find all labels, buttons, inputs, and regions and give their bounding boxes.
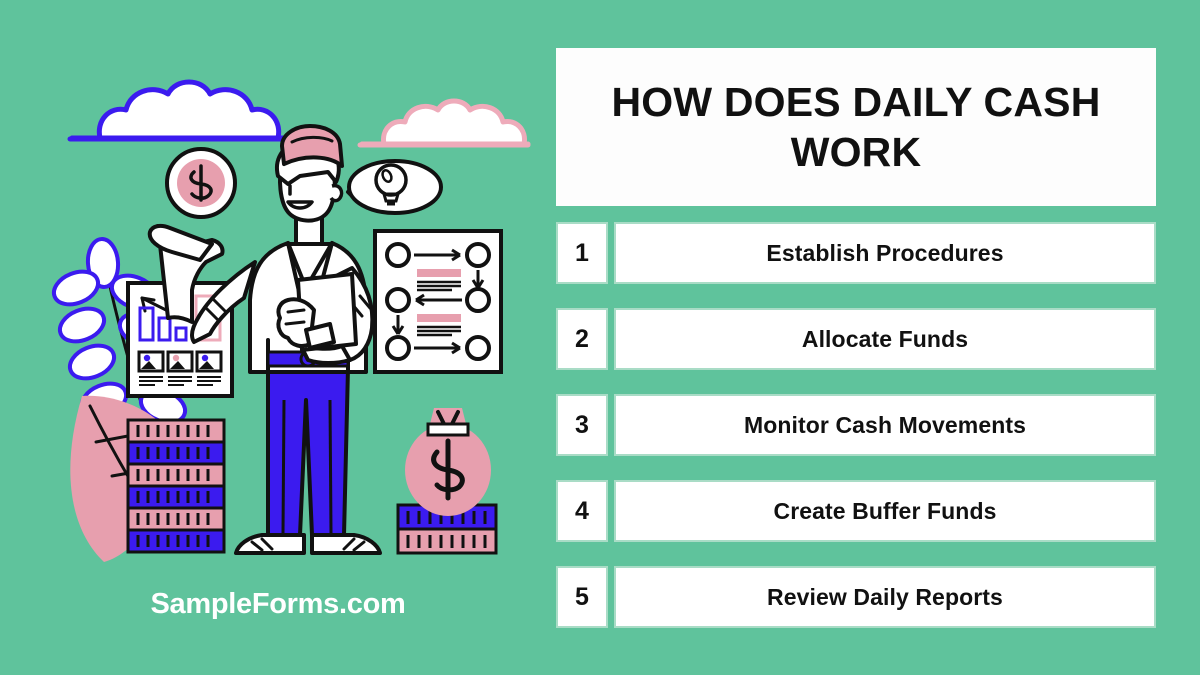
step-number: 3 [556, 394, 608, 456]
title-card: How Does Daily Cash Work [556, 48, 1156, 206]
flowchart-document-icon [375, 231, 501, 372]
list-item[interactable]: 5 Review Daily Reports [556, 566, 1156, 628]
step-label: Create Buffer Funds [614, 480, 1156, 542]
dollar-coin-icon [167, 149, 235, 217]
illustration: .ol{stroke:#111;stroke-width:4;fill:none… [0, 0, 556, 675]
speech-bubble-lightbulb-icon [348, 161, 441, 213]
list-item[interactable]: 1 Establish Procedures [556, 222, 1156, 284]
step-number: 2 [556, 308, 608, 370]
step-label: Monitor Cash Movements [614, 394, 1156, 456]
list-item[interactable]: 3 Monitor Cash Movements [556, 394, 1156, 456]
content-column: How Does Daily Cash Work 1 Establish Pro… [556, 48, 1156, 636]
step-label: Establish Procedures [614, 222, 1156, 284]
list-item[interactable]: 4 Create Buffer Funds [556, 480, 1156, 542]
brand-text: SampleForms.com [0, 588, 556, 621]
step-number: 4 [556, 480, 608, 542]
steps-list: 1 Establish Procedures 2 Allocate Funds … [556, 222, 1156, 652]
infographic-canvas: .ol{stroke:#111;stroke-width:4;fill:none… [0, 0, 1200, 675]
step-number: 1 [556, 222, 608, 284]
list-item[interactable]: 2 Allocate Funds [556, 308, 1156, 370]
step-number: 5 [556, 566, 608, 628]
step-label: Review Daily Reports [614, 566, 1156, 628]
step-label: Allocate Funds [614, 308, 1156, 370]
money-stack-icon [128, 420, 224, 552]
page-title: How Does Daily Cash Work [578, 77, 1134, 177]
